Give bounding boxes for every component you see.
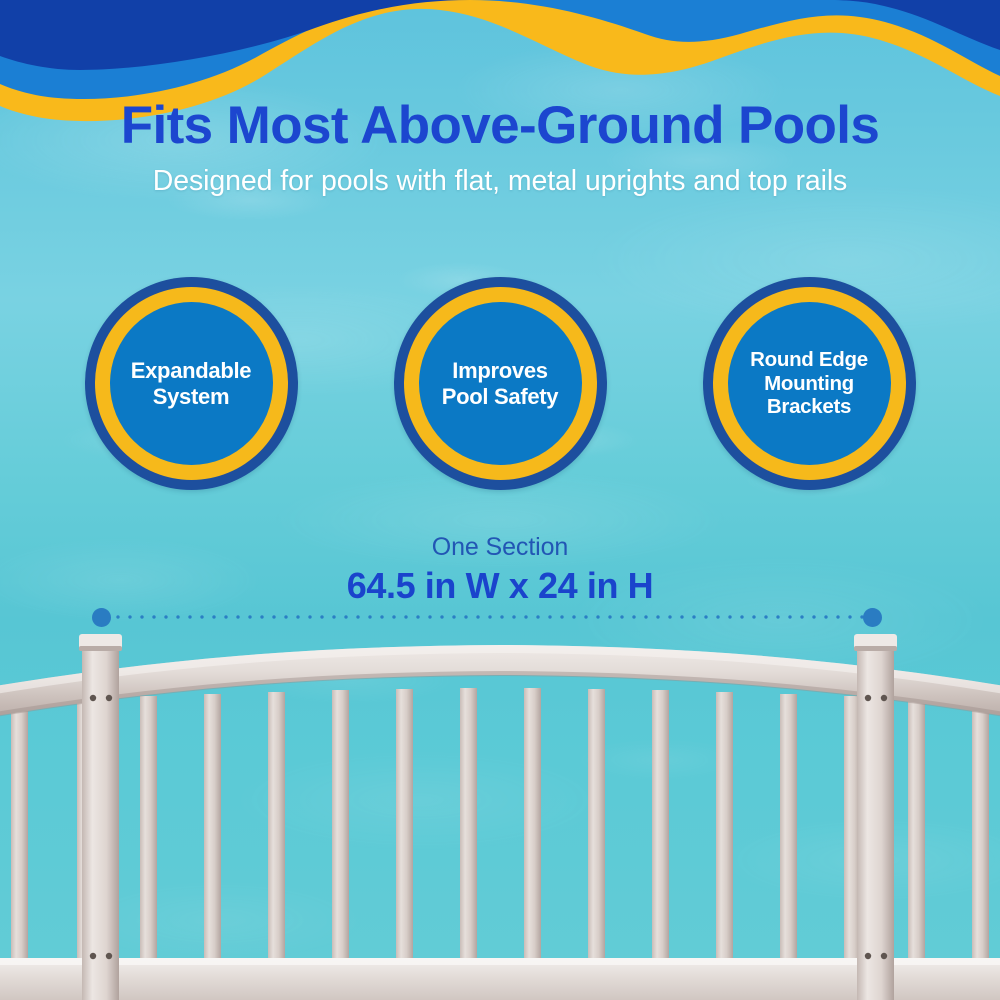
fence-post-screw — [90, 695, 96, 701]
fence-baluster — [588, 689, 605, 960]
fence-post-cap-shadow — [854, 646, 897, 651]
fence-baluster — [396, 689, 413, 960]
dimension-caption: One Section — [0, 533, 1000, 562]
badge-inner-disc: Improves Pool Safety — [419, 302, 582, 465]
fence-baluster — [204, 694, 221, 960]
fence-baluster-group — [11, 688, 989, 960]
fence-baluster — [780, 694, 797, 960]
fence-post-screw — [90, 953, 96, 959]
fence-baluster — [716, 692, 733, 960]
fence-baluster — [268, 692, 285, 960]
fence-baluster — [460, 688, 477, 960]
pool-fence-product — [0, 620, 1000, 1000]
feature-badge-row: Expandable System Improves Pool Safety R… — [0, 277, 1000, 490]
page-subtitle: Designed for pools with flat, metal upri… — [0, 165, 1000, 198]
fence-baluster — [332, 690, 349, 960]
fence-post-left — [79, 634, 122, 1000]
fence-post-cap-shadow — [79, 646, 122, 651]
fence-baluster — [652, 690, 669, 960]
fence-post-right — [854, 634, 897, 1000]
badge-inner-disc: Round Edge Mounting Brackets — [728, 302, 891, 465]
infographic-canvas: Fits Most Above-Ground Pools Designed fo… — [0, 0, 1000, 1000]
badge-label-round-edge-brackets: Round Edge Mounting Brackets — [750, 348, 868, 420]
fence-baluster — [140, 696, 157, 960]
feature-badge-expandable-system: Expandable System — [85, 277, 298, 490]
fence-baluster — [908, 700, 925, 960]
badge-label-improves-pool-safety: Improves Pool Safety — [442, 358, 559, 410]
badge-gold-ring: Round Edge Mounting Brackets — [713, 287, 906, 480]
fence-post-screw — [106, 695, 112, 701]
fence-post-body — [857, 646, 894, 1000]
feature-badge-improves-pool-safety: Improves Pool Safety — [394, 277, 607, 490]
fence-post-body — [82, 646, 119, 1000]
badge-label-expandable-system: Expandable System — [131, 358, 251, 410]
badge-gold-ring: Expandable System — [95, 287, 288, 480]
fence-post-screw — [106, 953, 112, 959]
feature-badge-round-edge-brackets: Round Edge Mounting Brackets — [703, 277, 916, 490]
badge-gold-ring: Improves Pool Safety — [404, 287, 597, 480]
dimension-callout: One Section 64.5 in W x 24 in H — [0, 533, 1000, 607]
fence-post-screw — [881, 953, 887, 959]
badge-inner-disc: Expandable System — [110, 302, 273, 465]
fence-post-screw — [865, 695, 871, 701]
fence-baluster — [524, 688, 541, 960]
fence-post-screw — [865, 953, 871, 959]
measure-dotted-line — [100, 615, 872, 619]
fence-baluster — [972, 704, 989, 960]
fence-baluster — [11, 700, 28, 960]
dimension-value: 64.5 in W x 24 in H — [0, 565, 1000, 607]
header-text-block: Fits Most Above-Ground Pools Designed fo… — [0, 98, 1000, 198]
fence-bottom-rail-highlight — [0, 958, 1000, 965]
page-title: Fits Most Above-Ground Pools — [0, 98, 1000, 154]
fence-post-screw — [881, 695, 887, 701]
